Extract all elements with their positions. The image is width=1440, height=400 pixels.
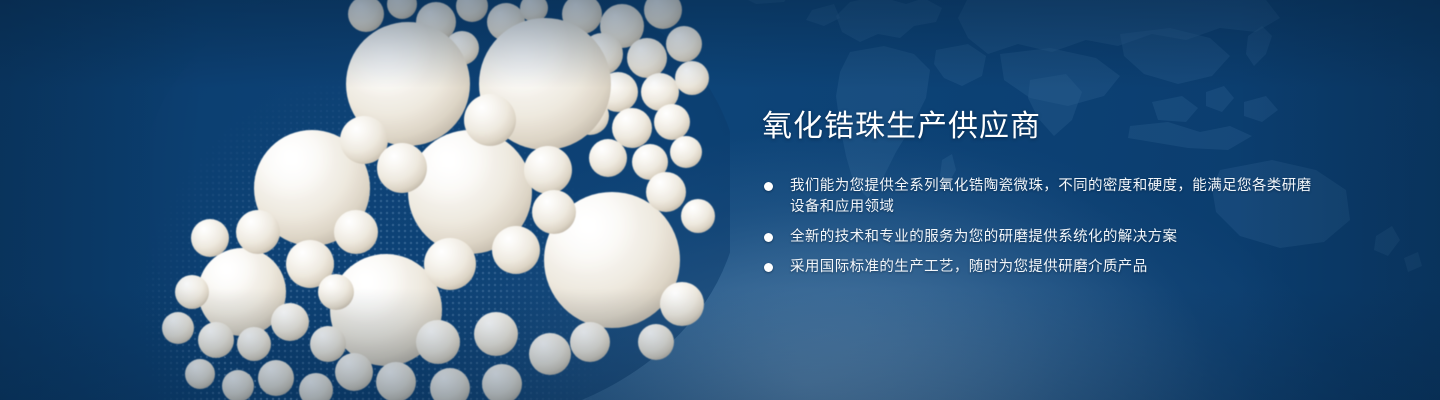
bullet-dot-icon [764,263,773,272]
list-item-label: 我们能为您提供全系列氧化锆陶瓷微珠，不同的密度和硬度，能满足您各类研磨设备和应用… [790,176,1322,218]
banner-copy: 氧化锆珠生产供应商 我们能为您提供全系列氧化锆陶瓷微珠，不同的密度和硬度，能满足… [762,108,1322,278]
page-title: 氧化锆珠生产供应商 [762,108,1322,146]
list-item: 采用国际标准的生产工艺，随时为您提供研磨介质产品 [762,257,1322,278]
bullet-dot-icon [764,233,773,242]
hero-banner: 氧化锆珠生产供应商 我们能为您提供全系列氧化锆陶瓷微珠，不同的密度和硬度，能满足… [0,0,1440,400]
list-item: 全新的技术和专业的服务为您的研磨提供系统化的解决方案 [762,227,1322,248]
list-item-label: 全新的技术和专业的服务为您的研磨提供系统化的解决方案 [790,227,1322,248]
bullet-dot-icon [764,182,773,191]
feature-list: 我们能为您提供全系列氧化锆陶瓷微珠，不同的密度和硬度，能满足您各类研磨设备和应用… [762,176,1322,278]
list-item-label: 采用国际标准的生产工艺，随时为您提供研磨介质产品 [790,257,1322,278]
list-item: 我们能为您提供全系列氧化锆陶瓷微珠，不同的密度和硬度，能满足您各类研磨设备和应用… [762,176,1322,218]
